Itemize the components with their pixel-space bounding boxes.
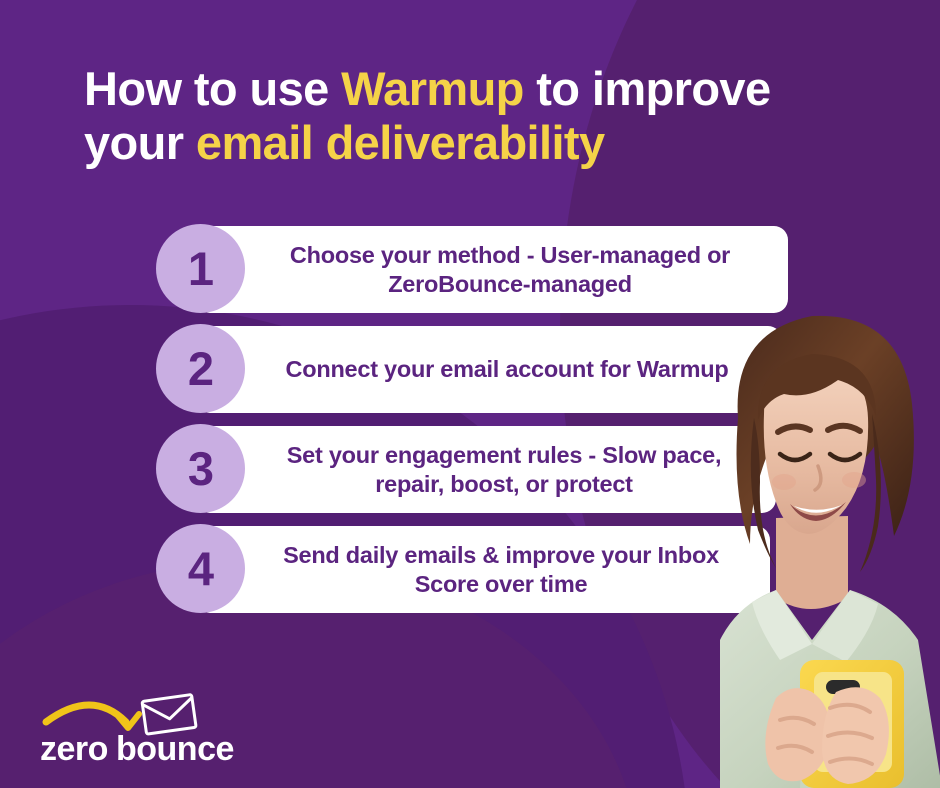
step-number-badge: 1 [156,224,245,313]
step-number: 1 [188,245,213,292]
logo-wordmark-zero: zero [40,730,108,764]
cheek-left [772,474,796,490]
infographic-canvas: How to use Warmup to improve your email … [0,0,940,788]
step-number: 4 [188,545,213,592]
headline-accent-deliverability: email deliverability [196,116,605,169]
step-number: 2 [188,345,213,392]
bounce-arc-icon [46,705,126,722]
step-number-badge: 2 [156,324,245,413]
envelope-icon [142,695,196,735]
step-number-badge: 3 [156,424,245,513]
headline-line-1: How to use Warmup to improve [84,62,884,116]
zerobounce-logo[interactable]: zero bounce [40,692,270,764]
headline-line-2: your email deliverability [84,116,884,170]
photo-woman-with-phone [680,268,940,788]
step-text: Send daily emails & improve your Inbox S… [254,541,748,598]
headline-text-2: to improve [524,62,771,115]
step-text: Connect your email account for Warmup [286,355,729,384]
step-text: Set your engagement rules - Slow pace, r… [254,441,754,498]
cheek-right [842,472,866,488]
headline-accent-warmup: Warmup [341,62,524,115]
logo-wordmark-bounce: bounce [116,730,234,764]
page-title: How to use Warmup to improve your email … [84,62,884,169]
headline-text-1: How to use [84,62,341,115]
headline-text-3: your [84,116,196,169]
step-number-badge: 4 [156,524,245,613]
step-number: 3 [188,445,213,492]
